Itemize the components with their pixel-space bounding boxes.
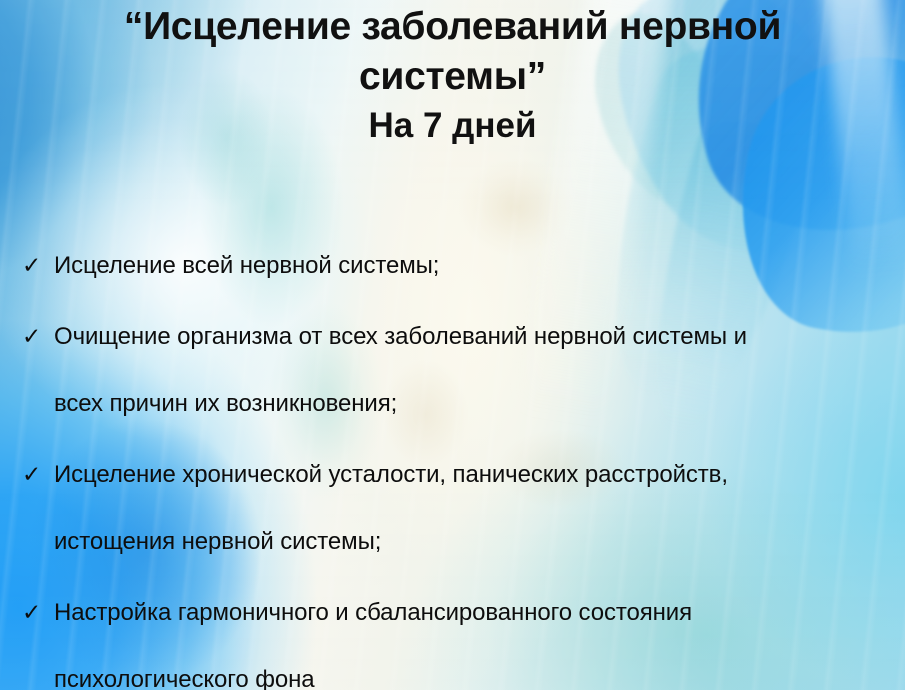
list-item-line: психологического фона [54,662,887,690]
list-item-text: Настройка гармоничного и сбалансированно… [54,595,905,690]
checkmark-icon: ✓ [22,595,54,630]
list-item-line: истощения нервной системы; [54,524,887,559]
checkmark-icon: ✓ [22,457,54,492]
list-item-text: Очищение организма от всех заболеваний н… [54,319,905,421]
slide-subtitle-duration: На 7 дней [0,104,905,148]
slide-title-block: “Исцеление заболеваний нервной системы” … [0,2,905,148]
slide-title-line-1: “Исцеление заболеваний нервной [0,2,905,52]
benefits-list: ✓ Исцеление всей нервной системы; ✓ Очищ… [0,248,905,690]
list-item-line: Настройка гармоничного и сбалансированно… [54,595,887,630]
list-item: ✓ Очищение организма от всех заболеваний… [0,319,905,421]
list-item-line: Очищение организма от всех заболеваний н… [54,319,887,354]
slide-content: “Исцеление заболеваний нервной системы” … [0,0,905,690]
presentation-slide: “Исцеление заболеваний нервной системы” … [0,0,905,690]
list-item: ✓ Исцеление всей нервной системы; [0,248,905,283]
list-item-line: всех причин их возникновения; [54,386,887,421]
list-item: ✓ Исцеление хронической усталости, панич… [0,457,905,559]
checkmark-icon: ✓ [22,248,54,283]
list-item-text: Исцеление хронической усталости, паничес… [54,457,905,559]
list-item-line: Исцеление хронической усталости, паничес… [54,457,887,492]
checkmark-icon: ✓ [22,319,54,354]
list-item-line: Исцеление всей нервной системы; [54,248,887,283]
list-item: ✓ Настройка гармоничного и сбалансирован… [0,595,905,690]
slide-title-line-2: системы” [0,52,905,102]
list-item-text: Исцеление всей нервной системы; [54,248,905,283]
